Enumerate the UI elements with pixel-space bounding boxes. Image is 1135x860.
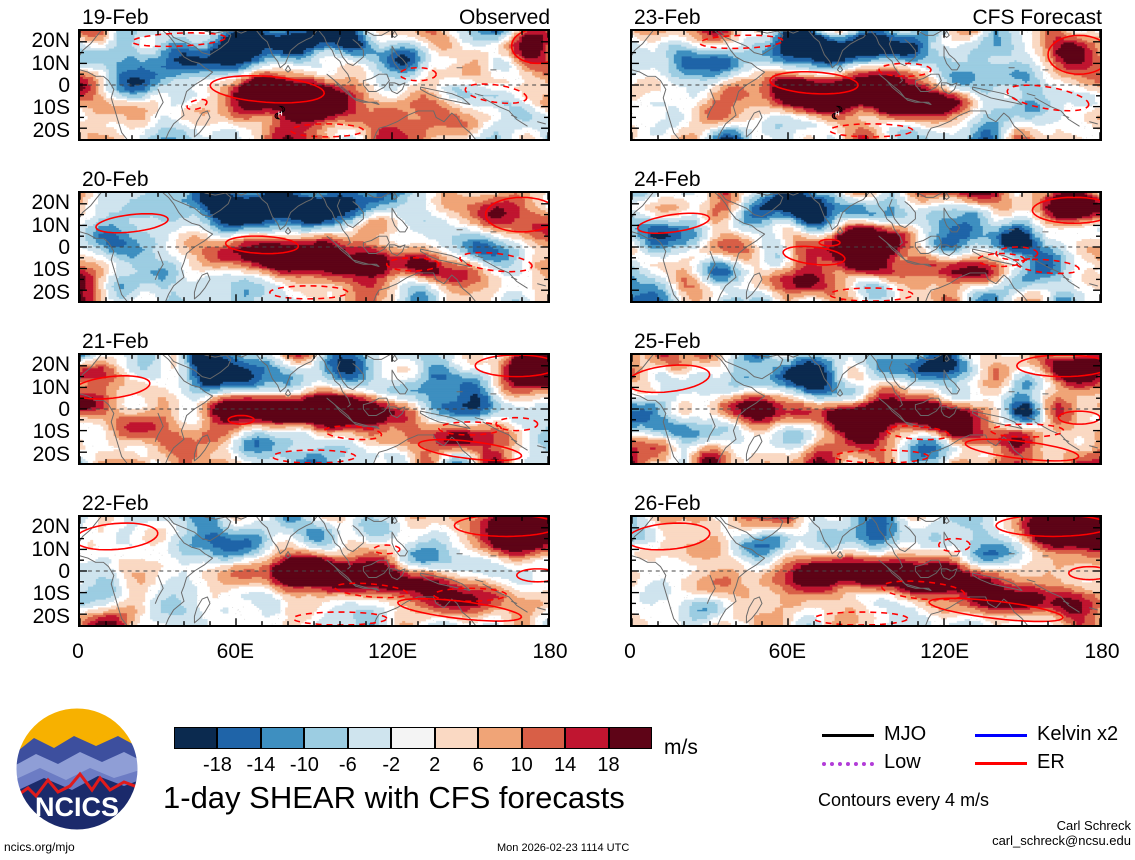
column-header: Observed <box>78 7 550 28</box>
y-axis-tick-label: 10N <box>0 377 70 398</box>
colorbar-segment <box>304 727 347 749</box>
author-email[interactable]: carl_schreck@ncsu.edu <box>885 833 1131 848</box>
y-axis-tick-label: 10S <box>0 583 70 604</box>
x-axis-tick-label: 0 <box>48 641 108 662</box>
legend-line-swatch <box>822 762 874 766</box>
y-axis-tick-label: 0 <box>0 399 70 420</box>
panel-date-label: 20-Feb <box>82 169 149 190</box>
y-axis-tick-label: 10S <box>0 259 70 280</box>
timestamp: Mon 2026-02-23 1114 UTC <box>497 843 629 854</box>
x-axis-tick-label: 120E <box>915 641 975 662</box>
shear-anomaly-map: H <box>630 29 1102 141</box>
shear-anomaly-map <box>630 515 1102 627</box>
colorbar-segment <box>217 727 260 749</box>
x-axis-tick-label: 180 <box>520 641 580 662</box>
y-axis-tick-label: 0 <box>0 237 70 258</box>
y-axis-tick-label: 0 <box>0 75 70 96</box>
colorbar-tick-label: 18 <box>583 755 635 775</box>
panel-date-label: 26-Feb <box>634 493 701 514</box>
y-axis-tick-label: 0 <box>0 561 70 582</box>
colorbar-swatches <box>174 727 652 749</box>
legend-label: ER <box>1037 752 1065 772</box>
shear-anomaly-map <box>78 353 550 465</box>
contour-note: Contours every 4 m/s <box>818 791 989 809</box>
colorbar-segment <box>261 727 304 749</box>
shear-anomaly-map <box>630 191 1102 303</box>
ncics-logo: NCICS <box>14 706 140 832</box>
shear-anomaly-map <box>78 515 550 627</box>
y-axis-tick-label: 10S <box>0 421 70 442</box>
svg-text:H: H <box>835 112 839 118</box>
colorbar-segment <box>478 727 521 749</box>
x-axis-tick-label: 60E <box>205 641 265 662</box>
panel-date-label: 24-Feb <box>634 169 701 190</box>
y-axis-tick-label: 20N <box>0 354 70 375</box>
colorbar-segment <box>522 727 565 749</box>
panel-date-label: 21-Feb <box>82 331 149 352</box>
colorbar-segment <box>565 727 608 749</box>
legend-line-swatch <box>975 762 1027 765</box>
colorbar-segment <box>435 727 478 749</box>
y-axis-tick-label: 10N <box>0 539 70 560</box>
colorbar-segment <box>609 727 652 749</box>
x-axis-tick-label: 60E <box>757 641 817 662</box>
x-axis-tick-label: 120E <box>363 641 423 662</box>
panel-date-label: 25-Feb <box>634 331 701 352</box>
legend-label: Low <box>884 752 921 772</box>
x-axis-tick-label: 180 <box>1072 641 1132 662</box>
y-axis-tick-label: 20N <box>0 516 70 537</box>
colorbar-units: m/s <box>664 737 698 758</box>
y-axis-tick-label: 10S <box>0 97 70 118</box>
y-axis-tick-label: 10N <box>0 215 70 236</box>
y-axis-tick-label: 20S <box>0 282 70 303</box>
site-link[interactable]: ncics.org/mjo <box>4 841 75 853</box>
figure-title: 1-day SHEAR with CFS forecasts <box>163 782 625 813</box>
x-axis-tick-label: 0 <box>600 641 660 662</box>
colorbar-segment <box>348 727 391 749</box>
legend-line-swatch <box>822 734 874 737</box>
y-axis-tick-label: 20S <box>0 606 70 627</box>
y-axis-tick-label: 20S <box>0 120 70 141</box>
colorbar-segment <box>174 727 217 749</box>
y-axis-tick-label: 10N <box>0 53 70 74</box>
shear-anomaly-map: H <box>78 29 550 141</box>
svg-text:H: H <box>278 112 282 118</box>
shear-anomaly-map <box>78 191 550 303</box>
author-name: Carl Schreck <box>885 818 1131 833</box>
y-axis-tick-label: 20N <box>0 192 70 213</box>
svg-text:NCICS: NCICS <box>35 792 119 822</box>
legend-line-swatch <box>975 734 1027 737</box>
y-axis-tick-label: 20S <box>0 444 70 465</box>
y-axis-tick-label: 20N <box>0 30 70 51</box>
legend-label: MJO <box>884 724 926 744</box>
panel-date-label: 22-Feb <box>82 493 149 514</box>
column-header: CFS Forecast <box>630 7 1102 28</box>
shear-anomaly-map <box>630 353 1102 465</box>
legend-label: Kelvin x2 <box>1037 724 1118 744</box>
colorbar-segment <box>391 727 434 749</box>
